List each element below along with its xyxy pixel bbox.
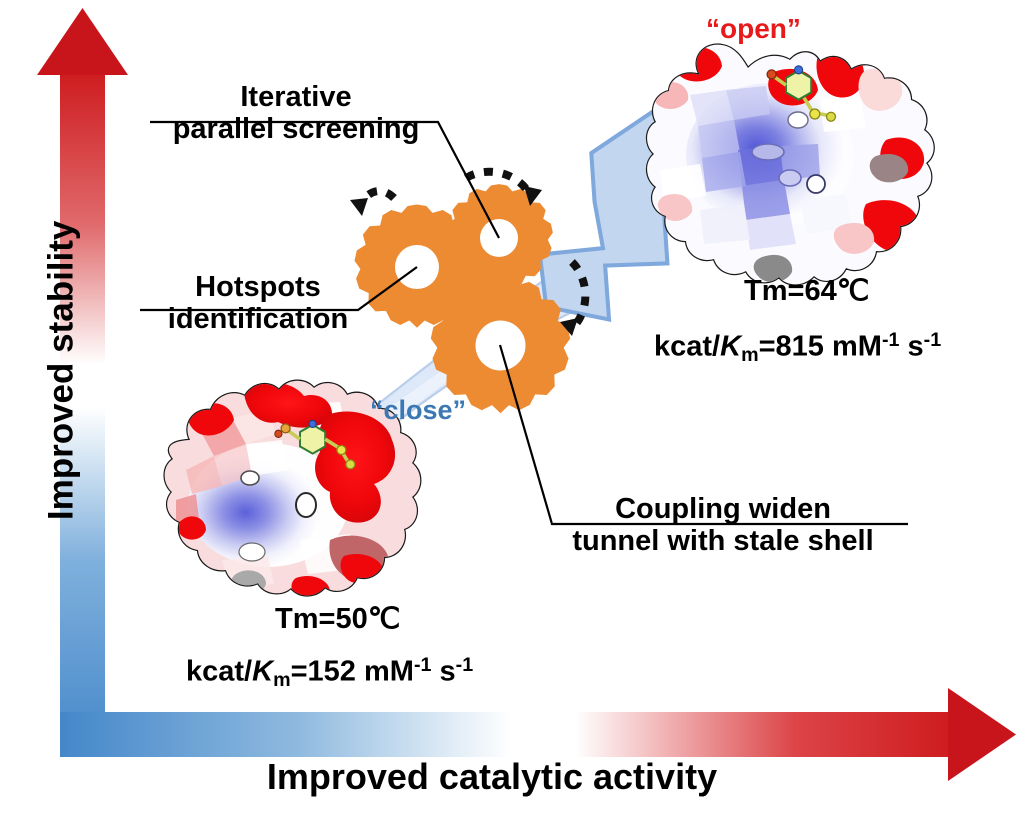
tm-value-open: Tm=64℃ <box>744 276 869 306</box>
gear-group <box>355 184 571 413</box>
state-label-close: “close” <box>370 396 466 424</box>
tm-prefix: Tm= <box>275 603 335 635</box>
callout-line-1: Iterative <box>148 82 444 114</box>
callout-line-2: identification <box>140 304 376 336</box>
y-axis-title: Improved stability <box>44 190 81 550</box>
kcat-number: 815 <box>776 330 824 362</box>
callout-hotspots-identification: Hotspots identification <box>140 272 376 336</box>
x-axis-title: Improved catalytic activity <box>112 758 872 796</box>
tm-unit: ℃ <box>837 275 870 307</box>
km-symbol: K <box>720 330 741 362</box>
kcat-km-open: kcat/Km=815 mM-1 s-1 <box>654 330 941 366</box>
kcat-exp-s: -1 <box>924 329 942 351</box>
callout-coupling-widen-tunnel: Coupling widen tunnel with stale shell <box>558 494 888 558</box>
kcat-km-close: kcat/Km=152 mM-1 s-1 <box>186 655 473 691</box>
tm-number: 64 <box>804 275 836 307</box>
kcat-prefix: kcat/ <box>186 655 252 687</box>
callout-line-1: Hotspots <box>140 272 376 304</box>
tm-unit: ℃ <box>368 603 401 635</box>
kcat-number: 152 <box>308 655 356 687</box>
kcat-exp-mm: -1 <box>882 329 900 351</box>
callout-iterative-parallel-screening: Iterative parallel screening <box>148 82 444 146</box>
kcat-exp-mm: -1 <box>414 654 432 676</box>
callout-line-1: Coupling widen <box>558 494 888 526</box>
kcat-exp-s: -1 <box>456 654 474 676</box>
tm-value-close: Tm=50℃ <box>275 604 400 634</box>
protein-surface-open <box>630 35 950 305</box>
kcat-prefix: kcat/ <box>654 330 720 362</box>
graphical-abstract-figure: Improved stability Improved catalytic ac… <box>0 0 1024 815</box>
tm-number: 50 <box>335 603 367 635</box>
kcat-equals: = <box>291 655 308 687</box>
callout-line-2: parallel screening <box>148 114 444 146</box>
km-subscript: m <box>741 344 759 366</box>
kcat-unit-mm: mM <box>364 655 414 687</box>
kcat-unit-s: s <box>440 655 456 687</box>
state-label-open: “open” <box>706 14 801 43</box>
callout-line-2: tunnel with stale shell <box>558 526 888 558</box>
kcat-equals: = <box>759 330 776 362</box>
kcat-unit-mm: mM <box>832 330 882 362</box>
km-subscript: m <box>273 669 291 691</box>
tm-prefix: Tm= <box>744 275 804 307</box>
km-symbol: K <box>252 655 273 687</box>
kcat-unit-s: s <box>908 330 924 362</box>
